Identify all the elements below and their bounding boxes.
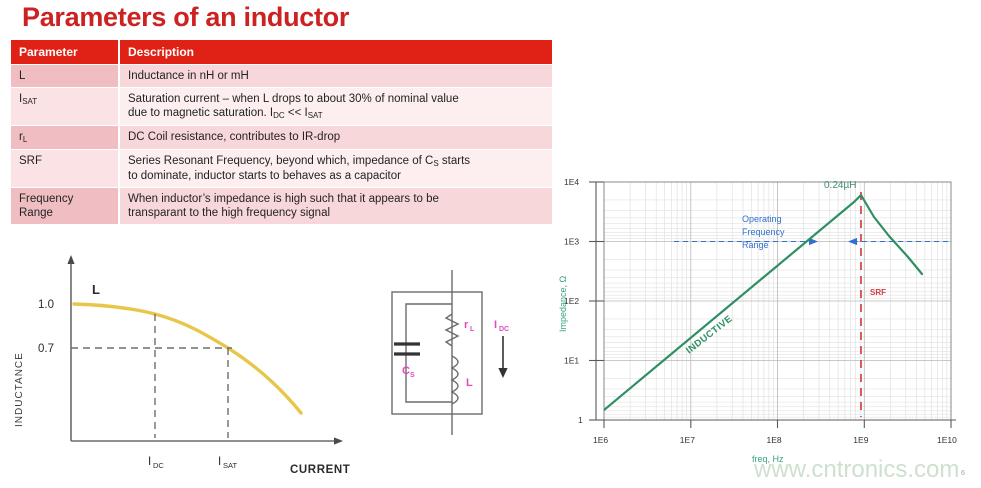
label-rl-base: r (464, 319, 469, 331)
y-axis-label: Impedance, Ω (558, 275, 568, 332)
x-axis-label: CURRENT (290, 464, 350, 476)
parameters-table: Parameter Description L Inductance in nH… (11, 40, 552, 225)
srf-label: SRF (870, 288, 886, 297)
y-tick-1: 1 (578, 415, 583, 425)
x-tick-1e6: 1E6 (593, 435, 608, 445)
row-desc-l: Inductance in nH or mH (119, 65, 552, 88)
row-desc-rl: DC Coil resistance, contributes to IR-dr… (119, 126, 552, 150)
svg-text:Range: Range (742, 240, 769, 250)
desc-text-2: due to magnetic saturation. I (128, 107, 273, 119)
x-tick-idc-sub: DC (153, 461, 164, 470)
y-axis (589, 182, 604, 420)
label-cs-sub: S (410, 372, 415, 379)
desc-text-2: transparant to the high frequency signal (128, 207, 330, 219)
table-row: Frequency Range When inductor’s impedanc… (11, 188, 552, 225)
param-name: SRF (19, 155, 42, 167)
x-tick-1e9: 1E9 (853, 435, 868, 445)
table-row: L Inductance in nH or mH (11, 65, 552, 88)
y-tick-1e1: 1E1 (564, 356, 579, 366)
inductor-equivalent-circuit: r L C S L I DC (386, 270, 556, 435)
param-subscript: L (23, 135, 27, 144)
label-cs-base: C (402, 365, 410, 377)
inductance-vs-current-chart: 1.0 0.7 INDUCTANCE CURRENT L I DC I SAT (0, 252, 375, 483)
y-tick-1: 1.0 (38, 299, 54, 311)
row-desc-srf: Series Resonant Frequency, beyond which,… (119, 150, 552, 188)
curve-label-l: L (92, 282, 100, 297)
impedance-vs-frequency-chart: 1E4 1E3 1E2 1E1 1 1E6 1E7 1E8 1E9 1E10 I… (556, 162, 981, 483)
desc-text-2: to dominate, inductor starts to behaves … (128, 170, 401, 182)
svg-text:Frequency: Frequency (742, 227, 785, 237)
label-rl-sub: L (470, 326, 475, 333)
y-tick-1e4: 1E4 (564, 177, 579, 187)
x-tick-isat-base: I (218, 456, 221, 468)
peak-value-label: 0.24µH (824, 180, 856, 191)
row-param-isat: ISAT (11, 88, 119, 126)
x-tick-1e8: 1E8 (767, 435, 782, 445)
table-header-parameter: Parameter (11, 40, 119, 65)
x-tick-isat: I SAT (218, 456, 237, 470)
table-row: ISAT Saturation current – when L drops t… (11, 88, 552, 126)
param-subscript: SAT (22, 97, 37, 106)
chart-axes (67, 255, 343, 445)
row-desc-isat: Saturation current – when L drops to abo… (119, 88, 552, 126)
x-tick-idc-base: I (148, 456, 151, 468)
row-param-frequency-range: Frequency Range (11, 188, 119, 225)
row-param-srf: SRF (11, 150, 119, 188)
label-rl: r L (464, 319, 475, 333)
row-param-rl: rL (11, 126, 119, 150)
svg-text:Operating: Operating (742, 214, 782, 224)
desc-subscript-sat: SAT (308, 111, 323, 120)
label-l: L (466, 377, 473, 389)
desc-text-1b: starts (439, 155, 470, 167)
x-axis (596, 420, 956, 428)
desc-text: Inductance in nH or mH (128, 70, 249, 82)
x-tick-idc: I DC (148, 456, 164, 470)
desc-text-3: << I (285, 107, 308, 119)
table-header-description: Description (119, 40, 552, 65)
desc-text: DC Coil resistance, contributes to IR-dr… (128, 131, 340, 143)
y-tick-2: 0.7 (38, 343, 54, 355)
label-cs: C S (402, 365, 415, 379)
watermark: www.cntronics.com (753, 456, 959, 483)
desc-text: Saturation current – when L drops to abo… (128, 93, 459, 105)
param-name-2: Range (19, 207, 53, 219)
table-header-row: Parameter Description (11, 40, 552, 65)
page-title: Parameters of an inductor (22, 2, 349, 33)
label-idc-base: I (494, 319, 497, 331)
x-tick-1e10: 1E10 (937, 435, 957, 445)
desc-subscript-dc: DC (273, 111, 285, 120)
idc-arrow: I DC (494, 319, 509, 378)
slide-root: Parameters of an inductor Parameter Desc… (0, 0, 981, 483)
table-row: SRF Series Resonant Frequency, beyond wh… (11, 150, 552, 188)
page-number: 6 (961, 470, 965, 477)
param-name: Frequency (19, 193, 73, 205)
desc-text: When inductor’s impedance is high such t… (128, 193, 439, 205)
param-name: L (19, 70, 25, 82)
row-desc-frequency-range: When inductor’s impedance is high such t… (119, 188, 552, 225)
x-tick-1e7: 1E7 (680, 435, 695, 445)
y-tick-1e3: 1E3 (564, 237, 579, 247)
y-axis-label: INDUCTANCE (14, 352, 25, 427)
capacitor-symbol (394, 344, 420, 354)
table-row: rL DC Coil resistance, contributes to IR… (11, 126, 552, 150)
row-param-l: L (11, 65, 119, 88)
guide-lines (71, 314, 232, 438)
desc-subscript-cs: S (433, 159, 438, 168)
inductor-symbol (452, 356, 458, 404)
desc-text: Series Resonant Frequency, beyond which,… (128, 155, 433, 167)
label-idc-sub: DC (499, 326, 509, 333)
inductance-curve (74, 304, 301, 413)
x-tick-isat-sub: SAT (223, 461, 237, 470)
